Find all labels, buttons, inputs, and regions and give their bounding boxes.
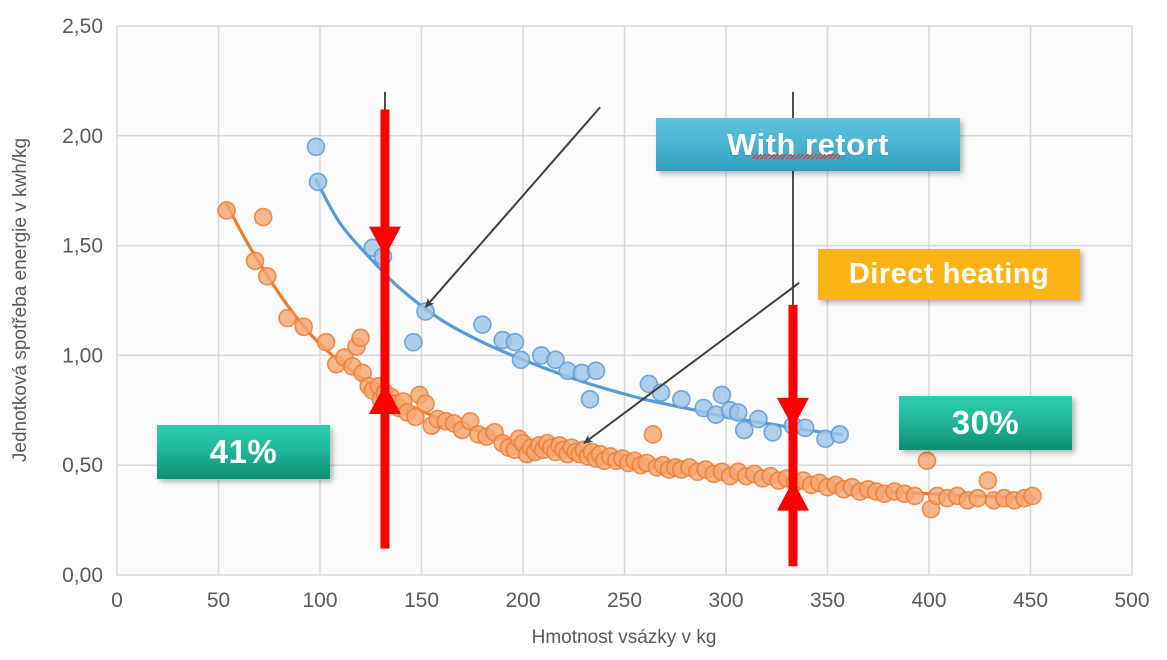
data-point: [255, 209, 272, 226]
x-tick-label: 400: [911, 589, 946, 612]
badge-percent-right-label: 30%: [952, 404, 1020, 442]
y-axis-title: Jednotková spotřeba energie v kwh/kg: [10, 138, 31, 462]
data-point: [307, 138, 324, 155]
data-point: [512, 351, 529, 368]
data-point: [295, 318, 312, 335]
data-point: [247, 252, 264, 269]
y-tick-label: 2,00: [62, 125, 103, 148]
data-point: [405, 334, 422, 351]
y-tick-label: 2,50: [62, 15, 103, 38]
x-tick-label: 350: [810, 589, 845, 612]
x-tick-label: 0: [111, 589, 123, 612]
x-tick-label: 250: [607, 589, 642, 612]
data-point: [764, 424, 781, 441]
data-point: [417, 303, 434, 320]
x-axis-tick-labels: 050100150200250300350400450500: [111, 589, 1149, 612]
data-point: [906, 487, 923, 504]
data-point: [1024, 487, 1041, 504]
callout-direct-heating[interactable]: Direct heating: [818, 249, 1080, 300]
data-point: [644, 426, 661, 443]
x-tick-label: 150: [404, 589, 439, 612]
x-tick-label: 200: [505, 589, 540, 612]
data-point: [730, 404, 747, 421]
data-point: [474, 316, 491, 333]
data-point: [736, 422, 753, 439]
x-tick-label: 450: [1013, 589, 1048, 612]
data-point: [588, 362, 605, 379]
callout-with-retort-label: With retort: [727, 127, 889, 163]
data-point: [750, 411, 767, 428]
badge-percent-right[interactable]: 30%: [899, 396, 1072, 450]
data-point: [581, 391, 598, 408]
chart-root: 0,000,501,001,502,002,50 050100150200250…: [0, 0, 1167, 660]
y-axis-tick-labels: 0,000,501,001,502,002,50: [62, 15, 103, 587]
data-point: [506, 334, 523, 351]
data-point: [218, 202, 235, 219]
y-tick-label: 1,50: [62, 235, 103, 258]
x-tick-label: 300: [708, 589, 743, 612]
data-point: [673, 391, 690, 408]
data-point: [352, 329, 369, 346]
data-point: [797, 419, 814, 436]
data-point: [713, 386, 730, 403]
data-point: [831, 426, 848, 443]
badge-percent-left-label: 41%: [210, 433, 278, 471]
data-point: [969, 490, 986, 507]
data-point: [259, 268, 276, 285]
y-tick-label: 0,00: [62, 564, 103, 587]
data-point: [309, 173, 326, 190]
callout-with-retort[interactable]: With retort: [656, 118, 960, 171]
x-tick-label: 100: [302, 589, 337, 612]
y-tick-label: 0,50: [62, 454, 103, 477]
y-tick-label: 1,00: [62, 344, 103, 367]
x-tick-label: 50: [207, 589, 230, 612]
data-point: [318, 334, 335, 351]
data-point: [979, 472, 996, 489]
callout-direct-heating-label: Direct heating: [849, 258, 1049, 291]
chart-canvas: 0,000,501,001,502,002,50 050100150200250…: [0, 0, 1167, 660]
data-point: [918, 452, 935, 469]
badge-percent-left[interactable]: 41%: [157, 425, 330, 479]
x-tick-label: 500: [1114, 589, 1149, 612]
x-axis-title: Hmotnost vsázky v kg: [532, 627, 717, 648]
data-point: [417, 395, 434, 412]
data-point: [279, 310, 296, 327]
